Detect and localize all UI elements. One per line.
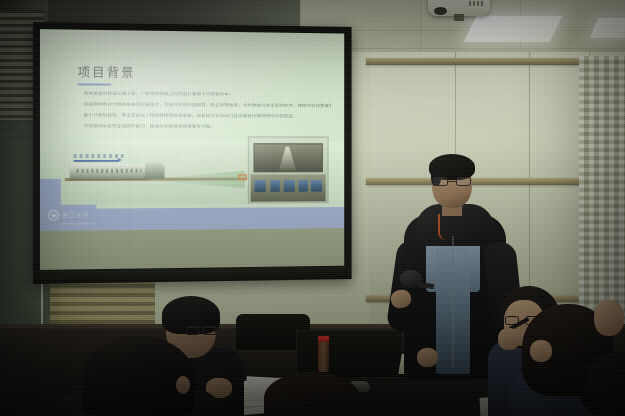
audience-ear [176,376,190,394]
soft-drink-bottle[interactable] [318,341,329,372]
ceiling-light-panel [464,16,563,42]
direction-arrow-icon [74,160,118,162]
audience-hand [594,300,624,336]
presenter-right-hand [417,348,438,367]
audience-head-foreground [264,372,360,416]
slide-body-text: 地铁是城市轨道交通工程，一条地铁线路上同时运行着数十列地铁列车， 轨道障碍物对于… [84,91,332,136]
audience-hair [82,336,194,416]
glasses-icon [433,177,471,186]
slide-title: 项目背景 [78,61,136,80]
presentation-slide: 项目背景 地铁是城市轨道交通工程，一条地铁线路上同时运行着数十列地铁列车， 轨道… [40,29,344,231]
ceiling-projector [428,0,490,16]
metro-train-icon [70,164,147,179]
audience-hair [586,352,625,416]
audience-head-far-right [586,352,625,416]
projector-mount [454,14,464,21]
slide-body-line: 轨道障碍物对于地铁系统的危害极大，为提升识别的准确性，防止异物侵限，对车辆运行安… [84,102,332,109]
train-cab-icon [145,163,164,179]
projector-lens [434,7,447,15]
projection-screen: 项目背景 地铁是城市轨道交通工程，一条地铁线路上同时运行着数十列地铁列车， 轨道… [33,22,352,284]
screen-surface: 项目背景 地铁是城市轨道交通工程，一条地铁线路上同时运行着数十列地铁列车， 轨道… [40,29,344,270]
train-cab-simulator-photo [248,137,328,204]
projector-vent [469,1,485,6]
logo-subtext: ZHEJIANG UNIVERSITY [62,223,96,226]
presenter-lanyard [438,214,452,240]
computer-monitor [296,330,403,378]
university-emblem-icon [48,210,59,221]
obstacle-target-box [239,174,247,181]
presentation-photo: 项目背景 地铁是城市轨道交通工程，一条地铁线路上同时运行着数十列地铁列车， 轨道… [0,0,625,416]
audience-hair [264,372,360,416]
presenter-jacket-seam [452,236,454,368]
audience-raised-hand [594,300,625,340]
simulator-display-screen [253,143,322,173]
zhejiang-university-logo: 浙江大学 ZHEJIANG UNIVERSITY [48,205,96,226]
simulator-console [250,174,325,202]
slide-title-underline [78,83,111,85]
bottle-cap [318,336,329,342]
detection-beam-icon [151,171,245,189]
audience-man-foreground [72,336,222,416]
audience-hand [530,340,552,362]
meeting-room: 项目背景 地铁是城市轨道交通工程，一条地铁线路上同时运行着数十列地铁列车， 轨道… [0,0,625,416]
slide-body-line: 为地铁列车提供主动防护能力，检测与头部障碍物报警等功能。 [84,124,332,130]
glasses-icon [186,326,216,334]
slide-body-line: 基于计算机视觉，本论文研究了地铁障碍物检测系统，该系统可实现前行区间轨道内障碍物… [84,113,332,120]
train-detection-diagram [60,144,250,205]
slide-body-line: 地铁是城市轨道交通工程，一条地铁线路上同时运行着数十列地铁列车， [84,91,332,98]
logo-text: 浙江大学 [62,213,90,220]
